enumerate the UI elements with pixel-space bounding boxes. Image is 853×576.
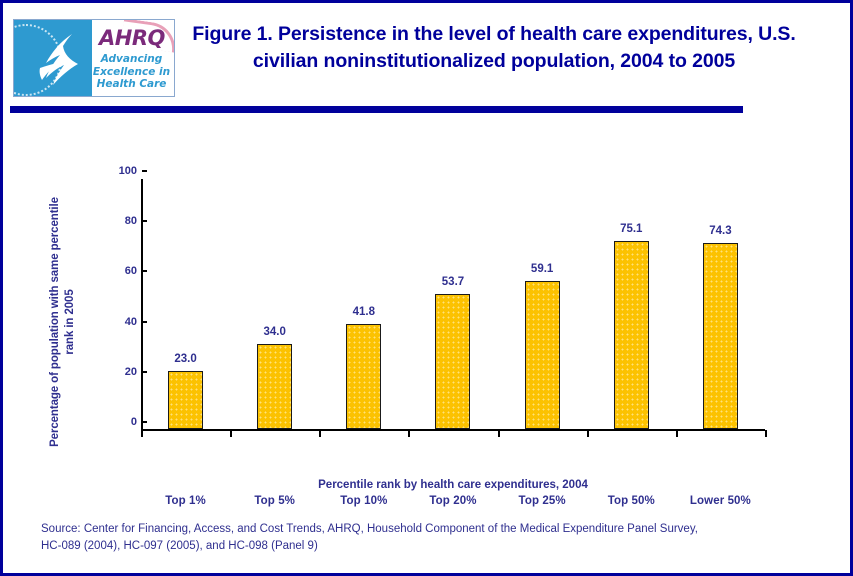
- y-axis-tick: 20: [97, 365, 147, 379]
- ahrq-wordmark: AHRQ: [99, 28, 165, 49]
- y-axis-tick: 80: [97, 214, 147, 228]
- y-axis-title: Percentage of population with same perce…: [48, 197, 78, 447]
- bar-value-label: 75.1: [587, 223, 676, 235]
- x-axis-line: [141, 429, 765, 431]
- source-note-line1: Source: Center for Financing, Access, an…: [41, 521, 831, 538]
- plot-area: 020406080100 23.034.041.853.759.175.174.…: [141, 179, 765, 431]
- x-axis-tick-mark: [498, 430, 500, 437]
- y-axis-tick-label: 20: [125, 365, 137, 379]
- bar-value-label: 74.3: [676, 225, 765, 237]
- x-axis-category-label: Top 10%: [319, 495, 408, 507]
- x-axis-tick-mark: [408, 430, 410, 437]
- source-note: Source: Center for Financing, Access, an…: [41, 521, 831, 555]
- y-axis-tick: 40: [97, 315, 147, 329]
- bar-value-label: 23.0: [141, 353, 230, 365]
- bar-group: [408, 178, 497, 429]
- x-axis-category-label: Top 5%: [230, 495, 319, 507]
- x-axis-tick-mark: [319, 430, 321, 437]
- chart: Percentage of population with same perce…: [3, 121, 850, 511]
- ahrq-tagline-line3: Health Care: [92, 78, 171, 91]
- bar[interactable]: [168, 371, 203, 429]
- bar-group: [498, 178, 587, 429]
- bar[interactable]: [525, 281, 560, 429]
- x-axis-tick-mark: [676, 430, 678, 437]
- y-axis-tick: 0: [97, 415, 147, 429]
- x-axis-category-label: Lower 50%: [676, 495, 765, 507]
- bar[interactable]: [703, 243, 738, 429]
- source-note-line2: HC-089 (2004), HC-097 (2005), and HC-098…: [41, 538, 831, 555]
- x-axis-category-label: Top 50%: [587, 495, 676, 507]
- x-axis-category-label: Top 1%: [141, 495, 230, 507]
- bar-group: [587, 178, 676, 429]
- bar-value-label: 34.0: [230, 326, 319, 338]
- ahrq-tagline-line1: Advancing: [92, 53, 171, 66]
- hhs-eagle-icon: [30, 30, 86, 88]
- bar[interactable]: [614, 241, 649, 430]
- hhs-seal-icon: [14, 20, 92, 96]
- figure-title: Figure 1. Persistence in the level of he…: [189, 21, 799, 75]
- x-axis-tick-mark: [141, 430, 143, 437]
- y-axis-tick-label: 60: [125, 264, 137, 278]
- bar-value-label: 59.1: [498, 263, 587, 275]
- x-axis-tick-mark: [765, 430, 767, 437]
- y-axis-tick-label: 0: [131, 415, 137, 429]
- x-axis-title: Percentile rank by health care expenditu…: [141, 479, 765, 491]
- bar-group: [230, 178, 319, 429]
- x-axis-category-label: Top 20%: [408, 495, 497, 507]
- bar-group: [676, 178, 765, 429]
- ahrq-tagline: Advancing Excellence in Health Care: [92, 53, 171, 91]
- y-axis-tick: 100: [97, 164, 147, 178]
- y-axis-tick-label: 100: [119, 164, 137, 178]
- ahrq-tagline-line2: Excellence in: [92, 66, 171, 79]
- y-axis-tick-label: 80: [125, 214, 137, 228]
- bar-value-label: 53.7: [408, 276, 497, 288]
- bar-group: [319, 178, 408, 429]
- bar[interactable]: [346, 324, 381, 429]
- x-axis-category-label: Top 25%: [498, 495, 587, 507]
- y-axis-tick-label: 40: [125, 315, 137, 329]
- header-divider: [10, 106, 743, 113]
- bar[interactable]: [435, 294, 470, 429]
- y-axis-tick: 60: [97, 264, 147, 278]
- header: AHRQ Advancing Excellence in Health Care…: [3, 3, 850, 121]
- x-axis-tick-mark: [230, 430, 232, 437]
- x-axis-tick-mark: [587, 430, 589, 437]
- bar[interactable]: [257, 344, 292, 429]
- bar-group: [141, 178, 230, 429]
- y-axis-tick-mark: [142, 170, 147, 172]
- figure-page: AHRQ Advancing Excellence in Health Care…: [0, 0, 853, 576]
- ahrq-logo: AHRQ Advancing Excellence in Health Care: [13, 19, 175, 97]
- bar-value-label: 41.8: [319, 306, 408, 318]
- ahrq-wordmark-block: AHRQ Advancing Excellence in Health Care: [92, 20, 174, 96]
